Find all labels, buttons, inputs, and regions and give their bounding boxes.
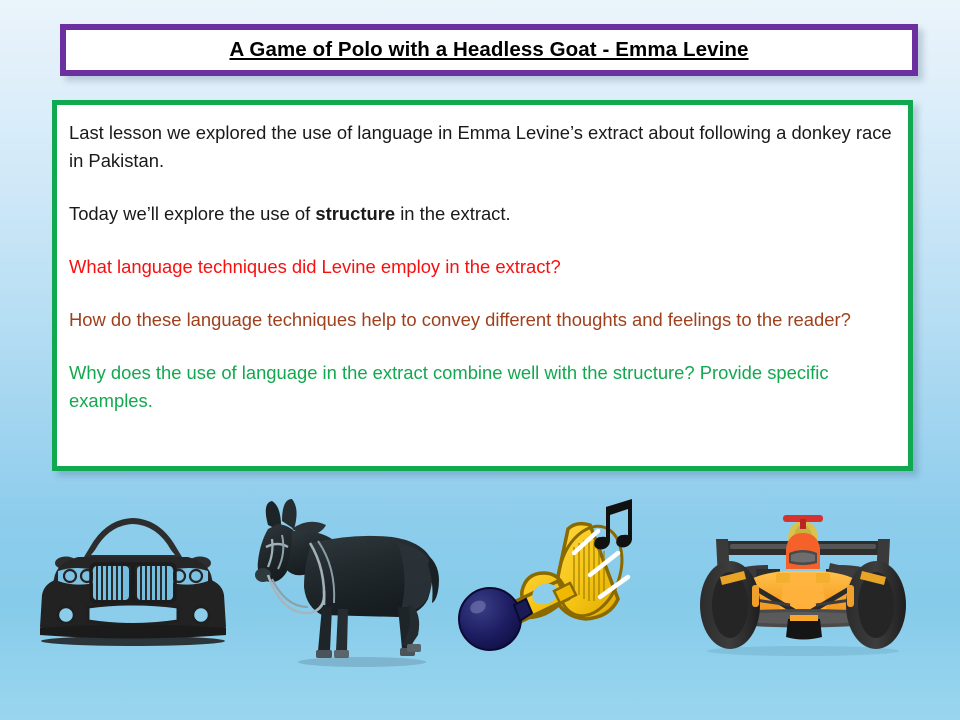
paragraph-today: Today we’ll explore the use of structure… xyxy=(67,200,892,228)
paragraph-recap: Last lesson we explored the use of langu… xyxy=(67,119,892,175)
paragraph-today-tail: in the extract. xyxy=(395,203,511,224)
formula-one-race-car-icon xyxy=(690,495,916,665)
paragraph-today-bold-word: structure xyxy=(315,203,395,224)
paragraph-question-red: What language techniques did Levine empl… xyxy=(67,253,892,281)
slide-canvas: A Game of Polo with a Headless Goat - Em… xyxy=(0,0,960,720)
donkey-icon xyxy=(252,495,448,670)
picture-strip xyxy=(0,495,960,695)
bulb-horn-icon xyxy=(450,495,660,660)
paragraph-question-green: Why does the use of language in the extr… xyxy=(67,359,892,415)
black-sedan-car-icon xyxy=(32,495,234,665)
page-title: A Game of Polo with a Headless Goat - Em… xyxy=(229,38,748,62)
image-race-car xyxy=(690,495,916,665)
title-box: A Game of Polo with a Headless Goat - Em… xyxy=(60,24,918,76)
image-bulb-horn xyxy=(450,495,660,660)
paragraph-today-lead: Today we’ll explore the use of xyxy=(69,203,315,224)
image-donkey xyxy=(252,495,448,670)
image-sedan-car xyxy=(32,495,234,665)
content-box: Last lesson we explored the use of langu… xyxy=(52,100,913,471)
paragraph-question-brown: How do these language techniques help to… xyxy=(67,306,892,334)
